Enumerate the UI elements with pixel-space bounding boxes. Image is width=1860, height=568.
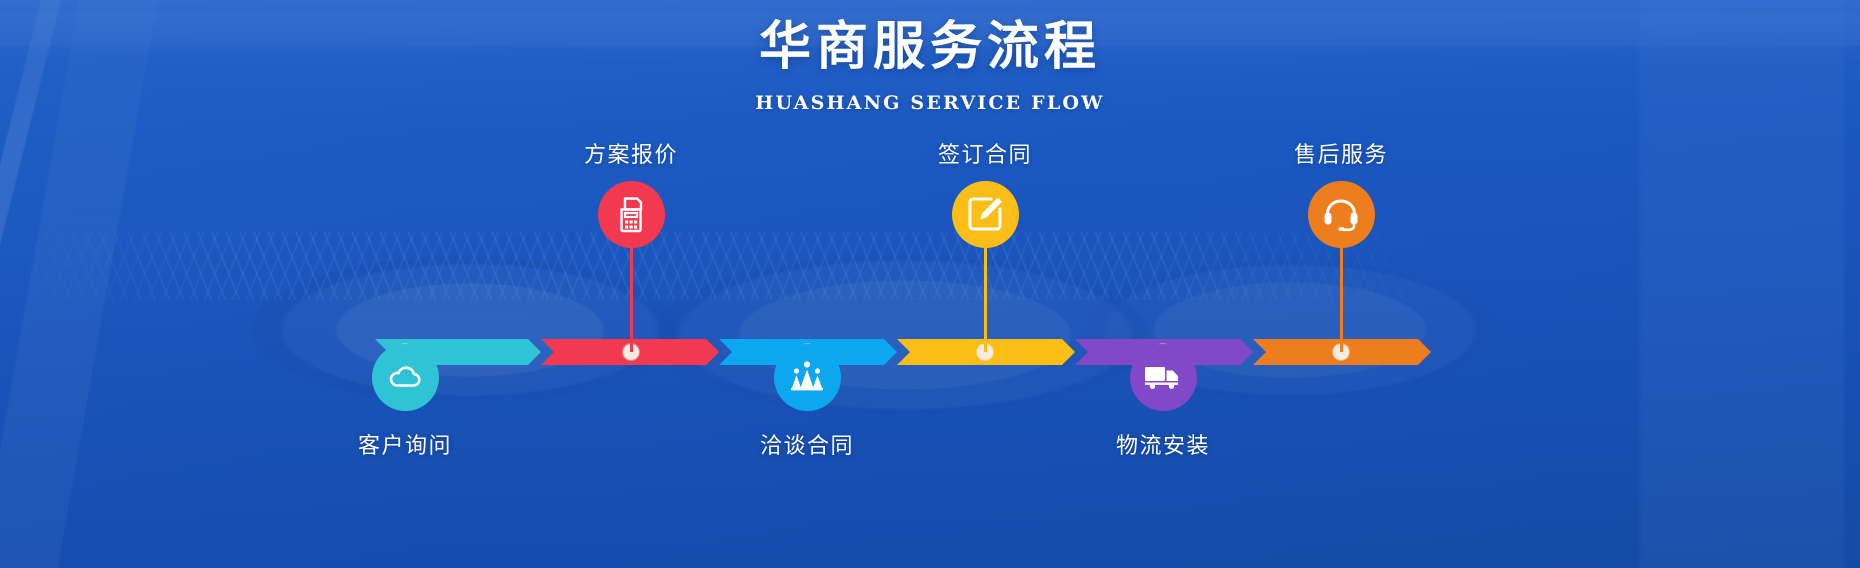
flow-label-4: 签订合同: [865, 137, 1105, 169]
flow-label-6: 售后服务: [1221, 137, 1461, 169]
flow-connector-6: [1340, 248, 1343, 353]
truck-icon: [1142, 356, 1184, 398]
meeting-icon: [787, 357, 827, 397]
service-flow-banner: 华商服务流程 HUASHANG SERVICE FLOW 客户询问方案报价洽谈合…: [0, 0, 1860, 568]
contract-sign-icon: [964, 193, 1006, 235]
flow-icon-bubble-6[interactable]: [1308, 181, 1375, 248]
flow-connector-2: [630, 248, 633, 353]
flow-connector-4: [984, 248, 987, 353]
service-flow-diagram: 客户询问方案报价洽谈合同签订合同物流安装售后服务: [0, 0, 1860, 568]
flow-icon-bubble-2[interactable]: [598, 181, 665, 248]
cloud-icon: [385, 357, 425, 397]
flow-icon-bubble-1[interactable]: [372, 344, 439, 411]
calculator-icon: [611, 194, 651, 234]
flow-label-5: 物流安装: [1043, 428, 1283, 460]
flow-label-2: 方案报价: [511, 137, 751, 169]
flow-icon-bubble-3[interactable]: [774, 344, 841, 411]
flow-ribbon: [375, 339, 1500, 365]
flow-label-1: 客户询问: [285, 428, 525, 460]
headset-icon: [1320, 193, 1362, 235]
flow-icon-bubble-5[interactable]: [1130, 344, 1197, 411]
flow-label-3: 洽谈合同: [687, 428, 927, 460]
flow-icon-bubble-4[interactable]: [952, 181, 1019, 248]
